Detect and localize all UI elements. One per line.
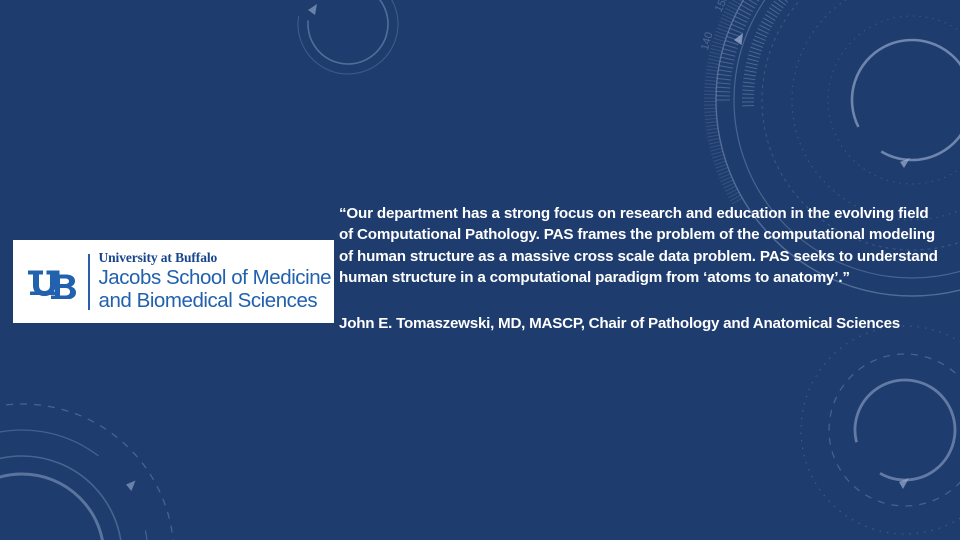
logo-wordmark: University at Buffalo Jacobs School of M…	[99, 251, 335, 312]
quote-block: “Our department has a strong focus on re…	[339, 203, 945, 334]
ub-logo-card: University at Buffalo Jacobs School of M…	[13, 240, 334, 323]
svg-text:150: 150	[713, 0, 732, 14]
quote-attribution-text: John E. Tomaszewski, MD, MASCP, Chair of…	[339, 313, 945, 334]
ring-top-center	[295, 0, 402, 77]
dial-ticks-mid-right	[704, 0, 758, 204]
logo-university-line: University at Buffalo	[99, 251, 335, 266]
logo-school-line-1: Jacobs School of Medicine	[99, 266, 335, 289]
arcs-bottom-left	[0, 384, 194, 540]
logo-divider-rule	[88, 254, 90, 310]
slide-canvas: 140150160170180190200210	[0, 0, 960, 540]
rings-bottom-right	[801, 326, 960, 534]
ub-monogram-icon	[27, 265, 79, 299]
svg-text:140: 140	[699, 31, 716, 52]
quote-body-text: “Our department has a strong focus on re…	[339, 203, 945, 288]
logo-school-line-2: and Biomedical Sciences	[99, 289, 335, 312]
